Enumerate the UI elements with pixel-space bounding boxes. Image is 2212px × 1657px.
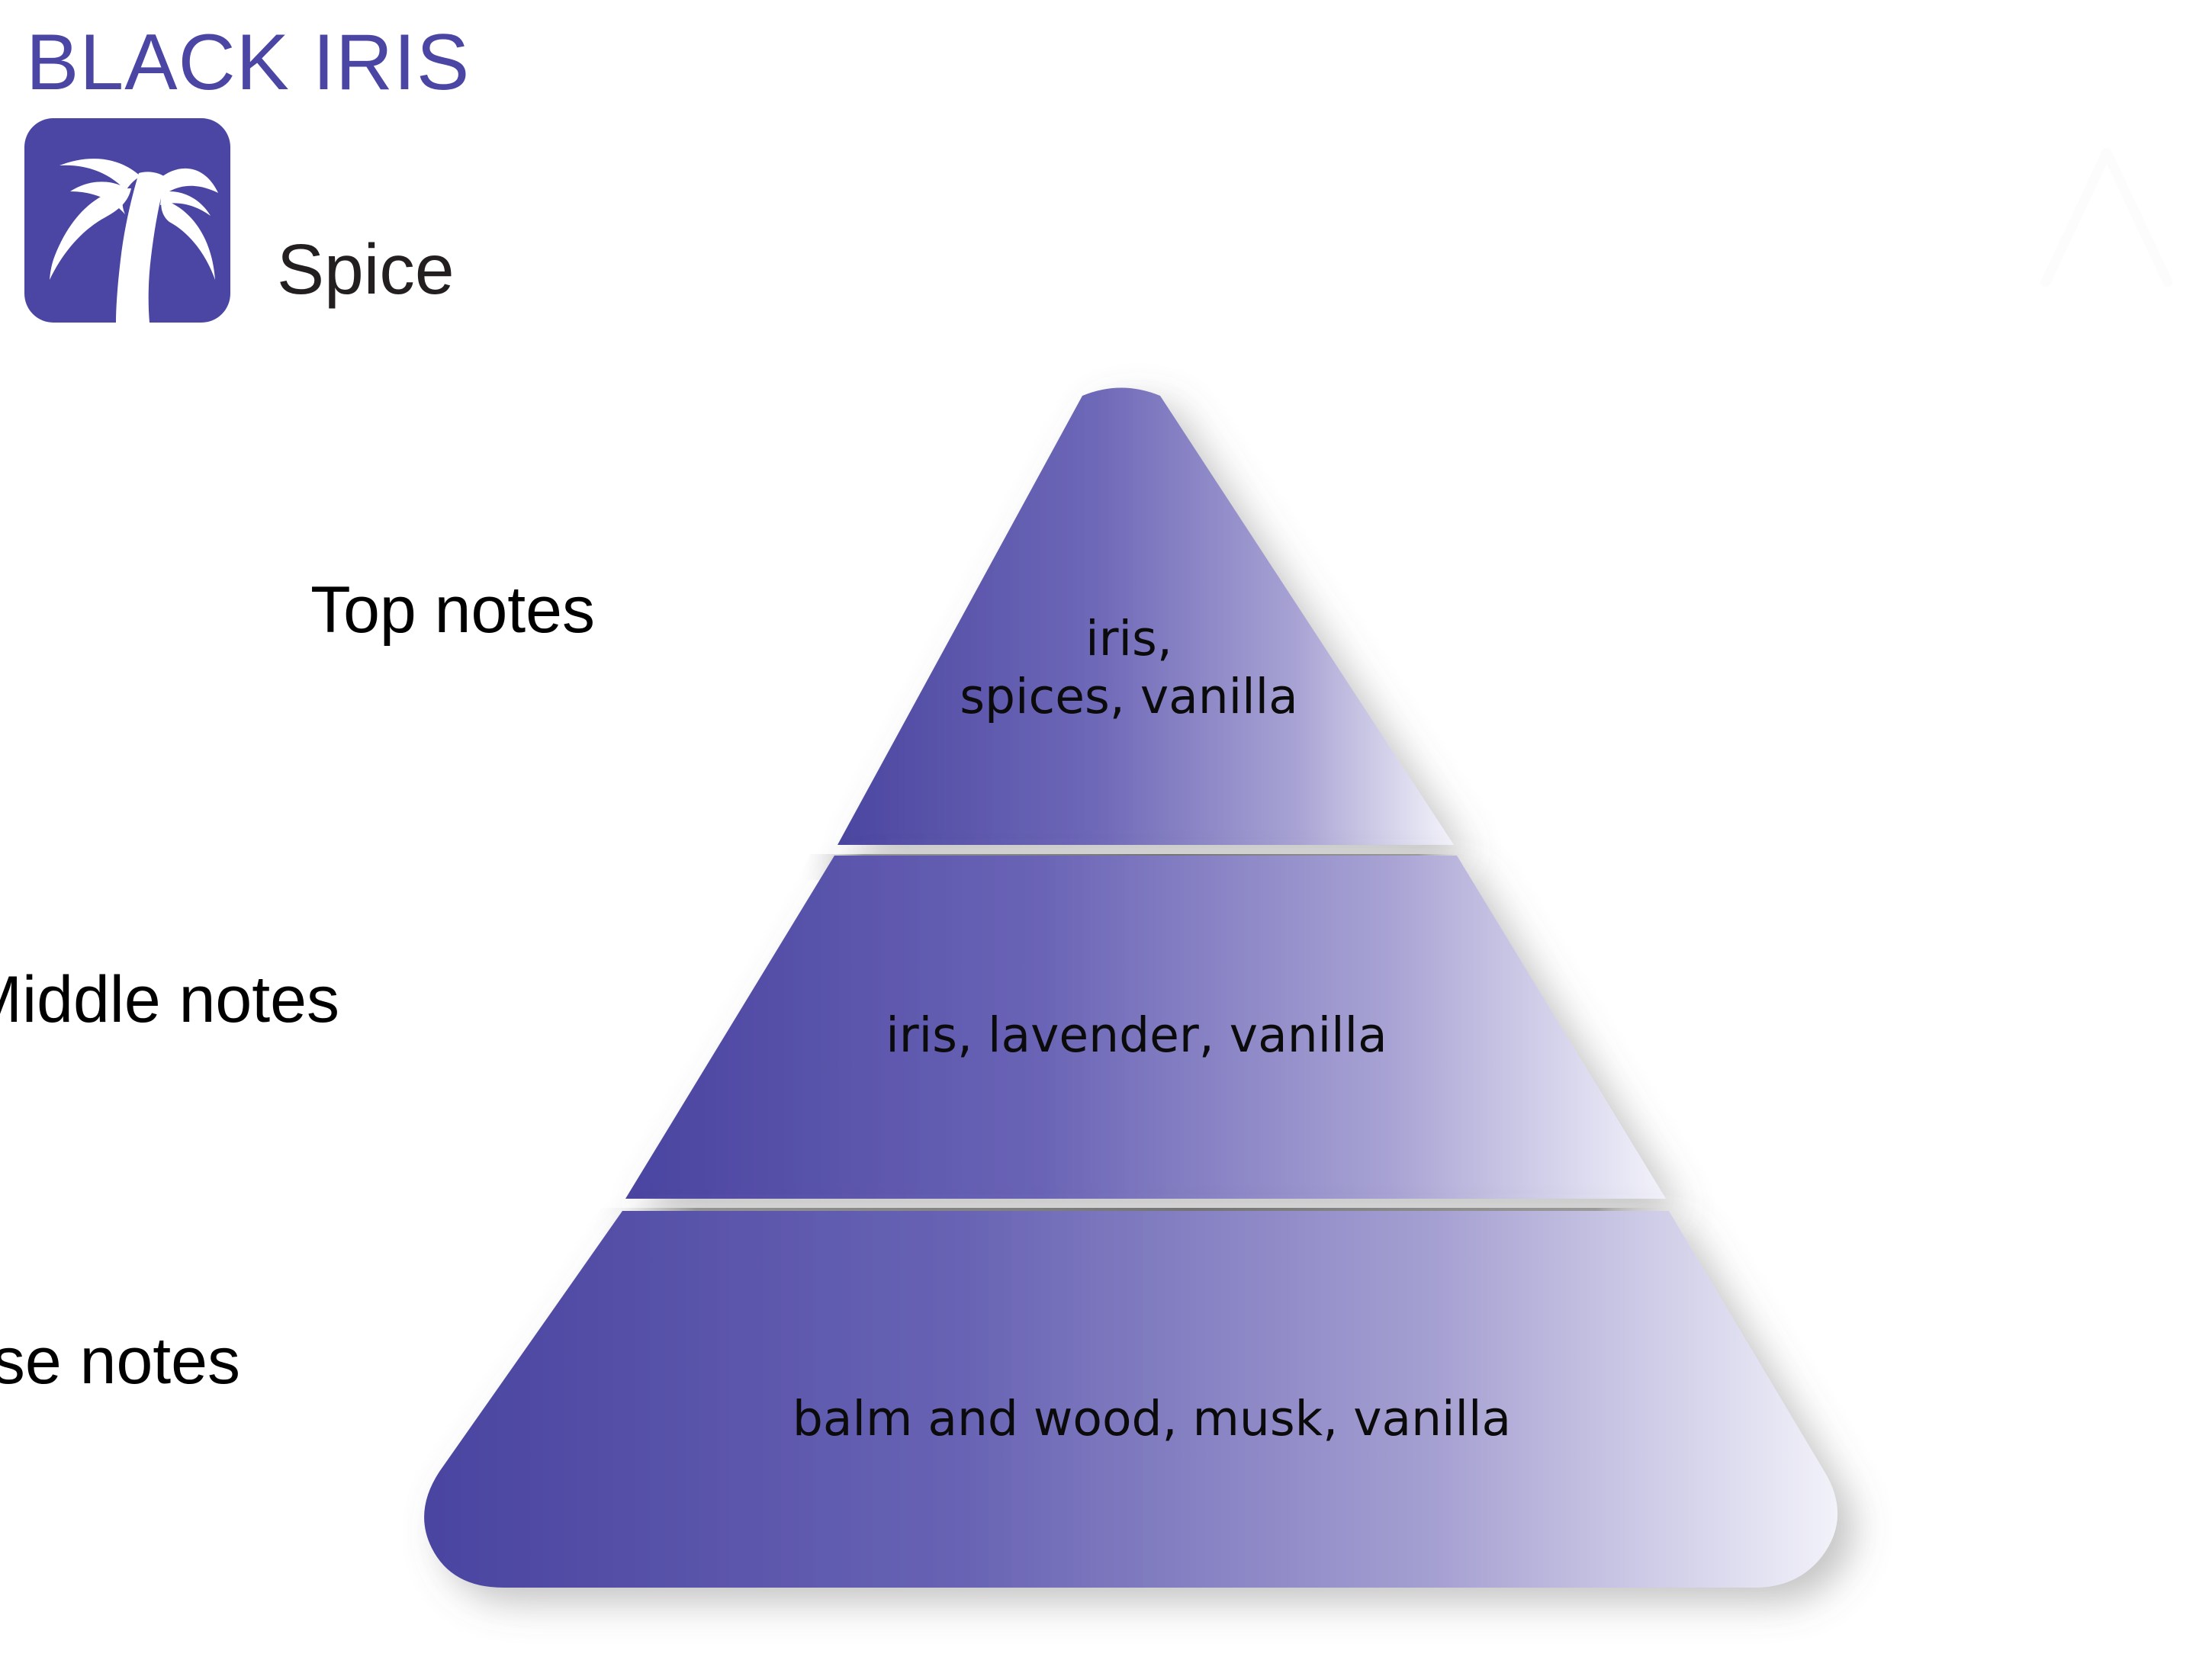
page-title: BLACK IRIS (26, 23, 470, 102)
chevron-watermark-icon (2015, 137, 2198, 297)
pyramid-label-base: Base notes (0, 1328, 240, 1394)
pyramid-label-middle: Middle notes (0, 967, 339, 1032)
pyramid-notes-top: iris, spices, vanilla (900, 610, 1358, 725)
pyramid-divider-lower (587, 1208, 1684, 1235)
pyramid-notes-base: balm and wood, musk, vanilla (580, 1390, 1724, 1448)
palm-tree-icon (24, 118, 230, 323)
pyramid-divider-upper (796, 854, 1472, 880)
pyramid-notes-middle: iris, lavender, vanilla (793, 1007, 1480, 1065)
fragrance-pyramid-slide: BLACK IRIS Spice (0, 0, 2212, 1657)
fragrance-family-label: Spice (277, 234, 455, 305)
pyramid-label-top: Top notes (310, 577, 595, 643)
